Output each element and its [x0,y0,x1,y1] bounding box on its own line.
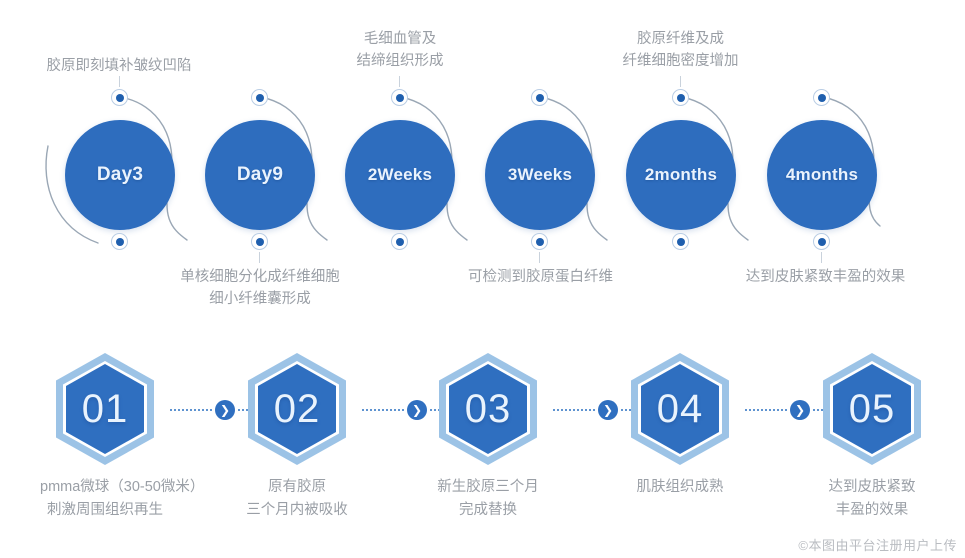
caption-line: 纤维细胞密度增加 [588,50,773,72]
caption-line: 细小纤维囊形成 [155,288,365,310]
step-number: 01 [50,350,160,468]
caption-line: 毛细血管及 [315,28,485,50]
leader-tick-below-2 [259,252,260,263]
caption-below-2: 可检测到胶原蛋白纤维 [448,266,633,288]
dot-core [396,94,404,102]
timeline-node-4months[interactable]: 4months [767,120,877,230]
caption-line: 新生胶原三个月 [423,476,553,499]
caption-line: pmma微球（30-50微米） [40,476,170,499]
caption-line: 刺激周围组织再生 [40,499,170,522]
timeline-bottom-dot-3 [391,233,408,250]
timeline-node-label: Day3 [97,164,143,186]
timeline-node-day9[interactable]: Day9 [205,120,315,230]
leader-tick-below-4 [539,252,540,263]
step-item-04[interactable]: 04 肌肤组织成熟 [615,350,745,499]
timeline-node-3weeks[interactable]: 3Weeks [485,120,595,230]
step-caption: pmma微球（30-50微米） 刺激周围组织再生 [40,476,170,522]
step-number: 04 [625,350,735,468]
caption-below-1: 单核细胞分化成纤维细胞 细小纤维囊形成 [155,266,365,310]
connector-dots [553,409,595,411]
dot-core [256,238,264,246]
timeline-node-label: Day9 [237,164,283,186]
dot-core [116,94,124,102]
caption-line: 结缔组织形成 [315,50,485,72]
dot-core [818,94,826,102]
infographic-canvas: Day3 Day9 2Weeks 3Weeks 2months 4months [0,0,965,558]
caption-line: 原有胶原 [232,476,362,499]
dot-core [536,238,544,246]
hexagon-shape: 03 [433,350,543,468]
dot-core [677,94,685,102]
dot-core [256,94,264,102]
dot-core [536,94,544,102]
caption-above-3: 胶原纤维及成 纤维细胞密度增加 [588,28,773,72]
step-item-01[interactable]: 01 pmma微球（30-50微米） 刺激周围组织再生 [40,350,170,522]
timeline-node-2weeks[interactable]: 2Weeks [345,120,455,230]
connector-dots [745,409,787,411]
hexagon-shape: 02 [242,350,352,468]
timeline-bottom-dot-4 [531,233,548,250]
timeline-top-dot-6 [813,89,830,106]
caption-line: 肌肤组织成熟 [615,476,745,499]
timeline-node-day3[interactable]: Day3 [65,120,175,230]
hexagon-shape: 05 [817,350,927,468]
caption-line: 胶原纤维及成 [588,28,773,50]
timeline-section: Day3 Day9 2Weeks 3Weeks 2months 4months [0,0,965,330]
timeline-top-dot-1 [111,89,128,106]
leader-tick-above-5 [680,76,681,87]
step-number: 02 [242,350,352,468]
step-item-03[interactable]: 03 新生胶原三个月 完成替换 [423,350,553,522]
timeline-top-dot-3 [391,89,408,106]
leader-tick-below-6 [821,252,822,263]
caption-above-1: 胶原即刻填补皱纹凹陷 [19,55,219,77]
dot-core [396,238,404,246]
leader-tick-above-1 [119,76,120,87]
timeline-node-label: 3Weeks [508,165,572,185]
step-caption: 新生胶原三个月 完成替换 [423,476,553,522]
timeline-node-2months[interactable]: 2months [626,120,736,230]
caption-above-2: 毛细血管及 结缔组织形成 [315,28,485,72]
caption-line: 三个月内被吸收 [232,499,362,522]
timeline-bottom-dot-6 [813,233,830,250]
watermark-text: ©本图由平台注册用户上传 [798,535,957,554]
timeline-node-label: 2Weeks [368,165,432,185]
step-item-05[interactable]: 05 达到皮肤紧致 丰盈的效果 [807,350,937,522]
hexagon-shape: 01 [50,350,160,468]
connector-dots [170,409,212,411]
timeline-top-dot-4 [531,89,548,106]
step-number: 05 [817,350,927,468]
timeline-bottom-dot-1 [111,233,128,250]
connector-dots [362,409,404,411]
caption-line: 丰盈的效果 [807,499,937,522]
dot-core [818,238,826,246]
caption-line: 完成替换 [423,499,553,522]
step-caption: 达到皮肤紧致 丰盈的效果 [807,476,937,522]
timeline-node-label: 2months [645,165,717,185]
timeline-top-dot-5 [672,89,689,106]
timeline-bottom-dot-5 [672,233,689,250]
caption-line: 胶原即刻填补皱纹凹陷 [19,55,219,77]
timeline-top-dot-2 [251,89,268,106]
caption-below-3: 达到皮肤紧致丰盈的效果 [728,266,923,288]
leader-tick-above-3 [399,76,400,87]
caption-line: 单核细胞分化成纤维细胞 [155,266,365,288]
caption-line: 达到皮肤紧致 [807,476,937,499]
timeline-node-label: 4months [786,165,858,185]
caption-line: 可检测到胶原蛋白纤维 [448,266,633,288]
step-caption: 肌肤组织成熟 [615,476,745,499]
caption-line: 达到皮肤紧致丰盈的效果 [728,266,923,288]
step-caption: 原有胶原 三个月内被吸收 [232,476,362,522]
step-item-02[interactable]: 02 原有胶原 三个月内被吸收 [232,350,362,522]
hexagon-shape: 04 [625,350,735,468]
dot-core [116,238,124,246]
dot-core [677,238,685,246]
step-number: 03 [433,350,543,468]
timeline-bottom-dot-2 [251,233,268,250]
process-steps-section: ❯ ❯ ❯ ❯ 01 [0,350,965,558]
